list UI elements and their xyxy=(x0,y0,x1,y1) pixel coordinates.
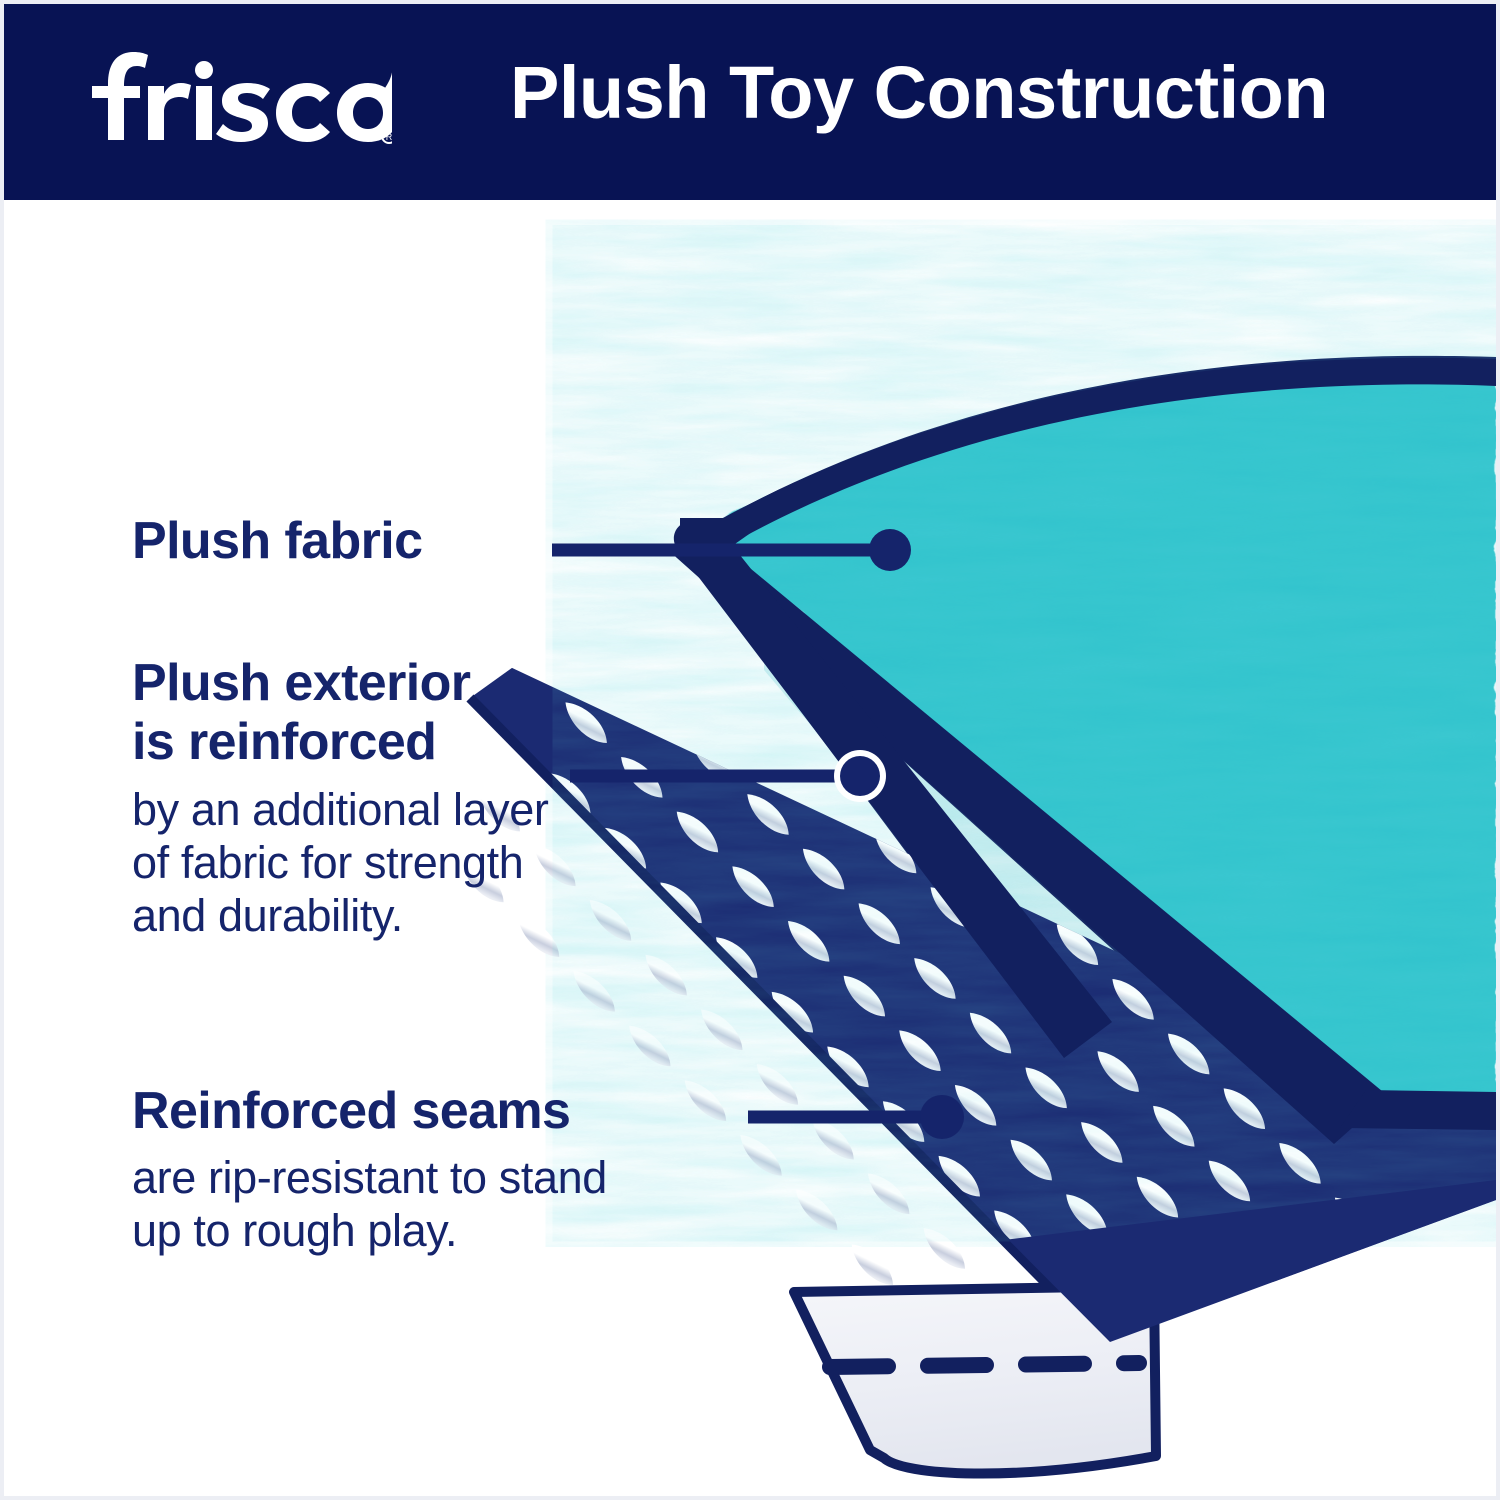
callout-heading: Reinforced seams xyxy=(132,1082,812,1141)
plush-fabric-bottom-edge xyxy=(1340,1090,1496,1130)
callout-heading: Plush exterior is reinforced xyxy=(132,654,732,773)
header-bar: R Plush Toy Construction xyxy=(4,4,1496,200)
callout-plush-fabric: Plush fabric xyxy=(132,512,612,571)
callout-heading: Plush fabric xyxy=(132,512,612,571)
frisco-logo: R xyxy=(82,42,392,150)
callout-reinforced-seams: Reinforced seams are rip-resistant to st… xyxy=(132,1082,812,1257)
callout-body: are rip-resistant to stand up to rough p… xyxy=(132,1151,812,1257)
infographic-page: R Plush Toy Construction xyxy=(0,0,1500,1500)
callout-plush-exterior: Plush exterior is reinforced by an addit… xyxy=(132,654,732,942)
callout-body: by an additional layer of fabric for str… xyxy=(132,783,732,942)
svg-text:R: R xyxy=(386,132,392,142)
page-title: Plush Toy Construction xyxy=(510,50,1328,135)
